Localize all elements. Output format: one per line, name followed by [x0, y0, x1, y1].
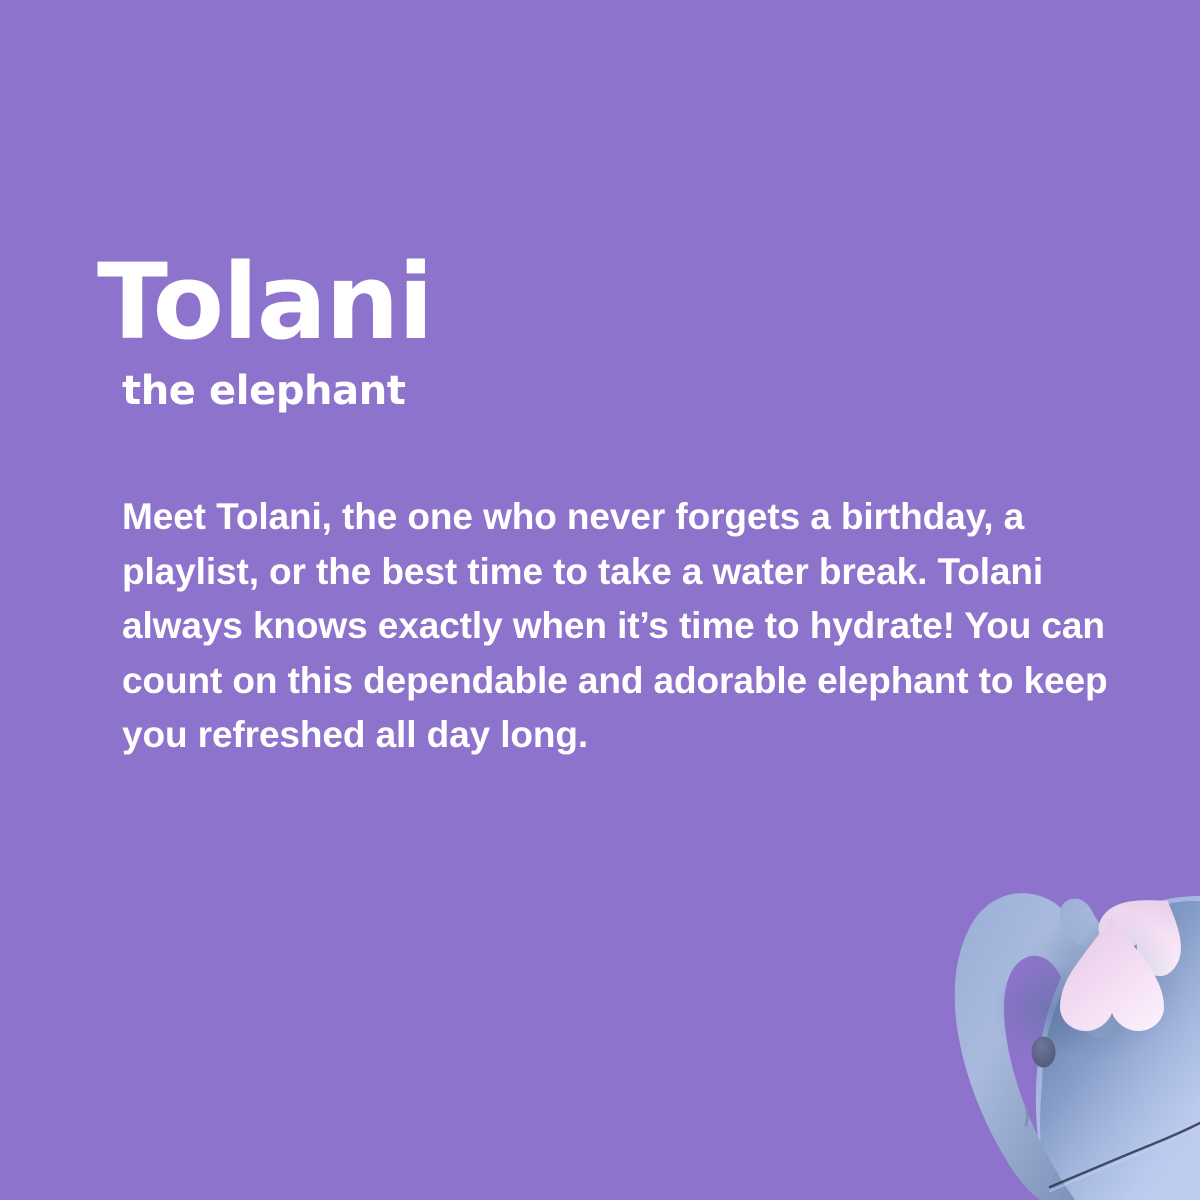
- mouth-mark: [1026, 1107, 1028, 1125]
- page-title: Tolani: [97, 250, 1107, 354]
- text-block: Tolani the elephant Meet Tolani, the one…: [97, 250, 1107, 354]
- character-description: Meet Tolani, the one who never forgets a…: [122, 490, 1122, 763]
- page-subtitle: the elephant: [122, 368, 406, 414]
- character-card: Tolani the elephant Meet Tolani, the one…: [0, 0, 1200, 1200]
- tolani-elephant-illustration: [900, 755, 1200, 1200]
- eye-group-final: [1032, 1037, 1056, 1068]
